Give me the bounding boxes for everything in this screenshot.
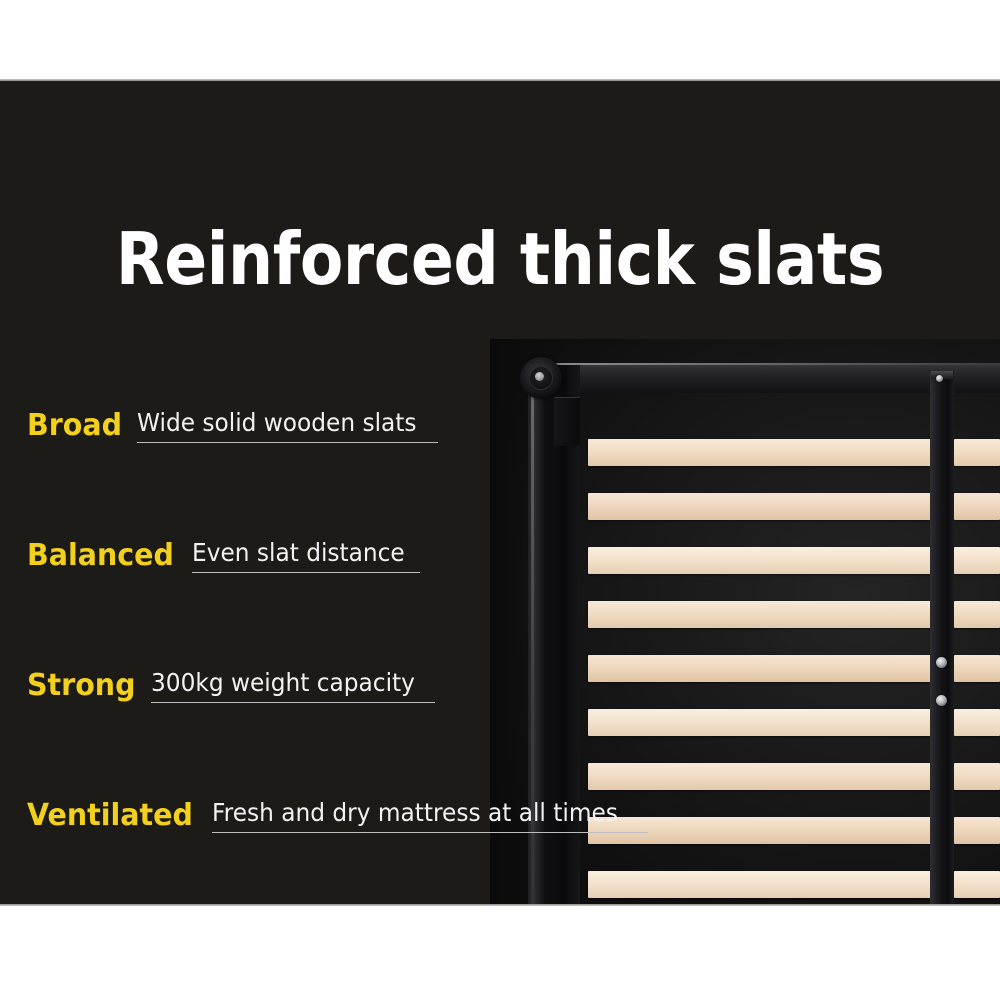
feature-key: Strong (27, 671, 135, 701)
feature-value: Fresh and dry mattress at all times (212, 800, 618, 825)
feature-key: Balanced (27, 541, 174, 571)
feature-item-broad: Broad Wide solid wooden slats (27, 411, 567, 541)
slat (588, 709, 932, 736)
feature-value-underline: Wide solid wooden slats (137, 410, 438, 443)
feature-item-ventilated: Ventilated Fresh and dry mattress at all… (27, 801, 567, 905)
slat (588, 871, 932, 898)
feature-item-balanced: Balanced Even slat distance (27, 541, 567, 671)
page-title: Reinforced thick slats (60, 223, 940, 295)
slat (954, 655, 1000, 682)
panel-bottom-divider (0, 904, 1000, 906)
feature-value: 300kg weight capacity (151, 670, 415, 695)
slat (954, 601, 1000, 628)
slat (954, 817, 1000, 844)
slat (588, 439, 932, 466)
screw-icon (936, 375, 943, 382)
corner-bolt-highlight (535, 372, 544, 381)
slat (954, 871, 1000, 898)
bed-frame-top-rail-highlight (552, 363, 1000, 365)
feature-key: Broad (27, 411, 122, 441)
screw-icon (936, 695, 947, 706)
slat (588, 547, 932, 574)
slat (954, 763, 1000, 790)
slat (588, 763, 932, 790)
feature-value: Wide solid wooden slats (137, 410, 417, 435)
slat (954, 547, 1000, 574)
feature-value-underline: 300kg weight capacity (151, 670, 435, 703)
dark-panel: Reinforced thick slats Broad Wide solid … (0, 81, 1000, 905)
feature-list: Broad Wide solid wooden slats Balanced E… (27, 411, 567, 905)
slat (588, 601, 932, 628)
feature-value-underline: Even slat distance (192, 540, 421, 573)
feature-value: Even slat distance (192, 540, 405, 565)
bed-frame-center-support-rail (930, 371, 954, 905)
screw-icon (936, 657, 947, 668)
product-feature-banner: Reinforced thick slats Broad Wide solid … (0, 0, 1000, 1000)
feature-value-underline: Fresh and dry mattress at all times (212, 800, 648, 833)
feature-item-strong: Strong 300kg weight capacity (27, 671, 567, 801)
feature-key: Ventilated (27, 801, 193, 831)
slat (588, 655, 932, 682)
slat (588, 493, 932, 520)
slat (954, 709, 1000, 736)
slat (954, 439, 1000, 466)
slat (954, 493, 1000, 520)
